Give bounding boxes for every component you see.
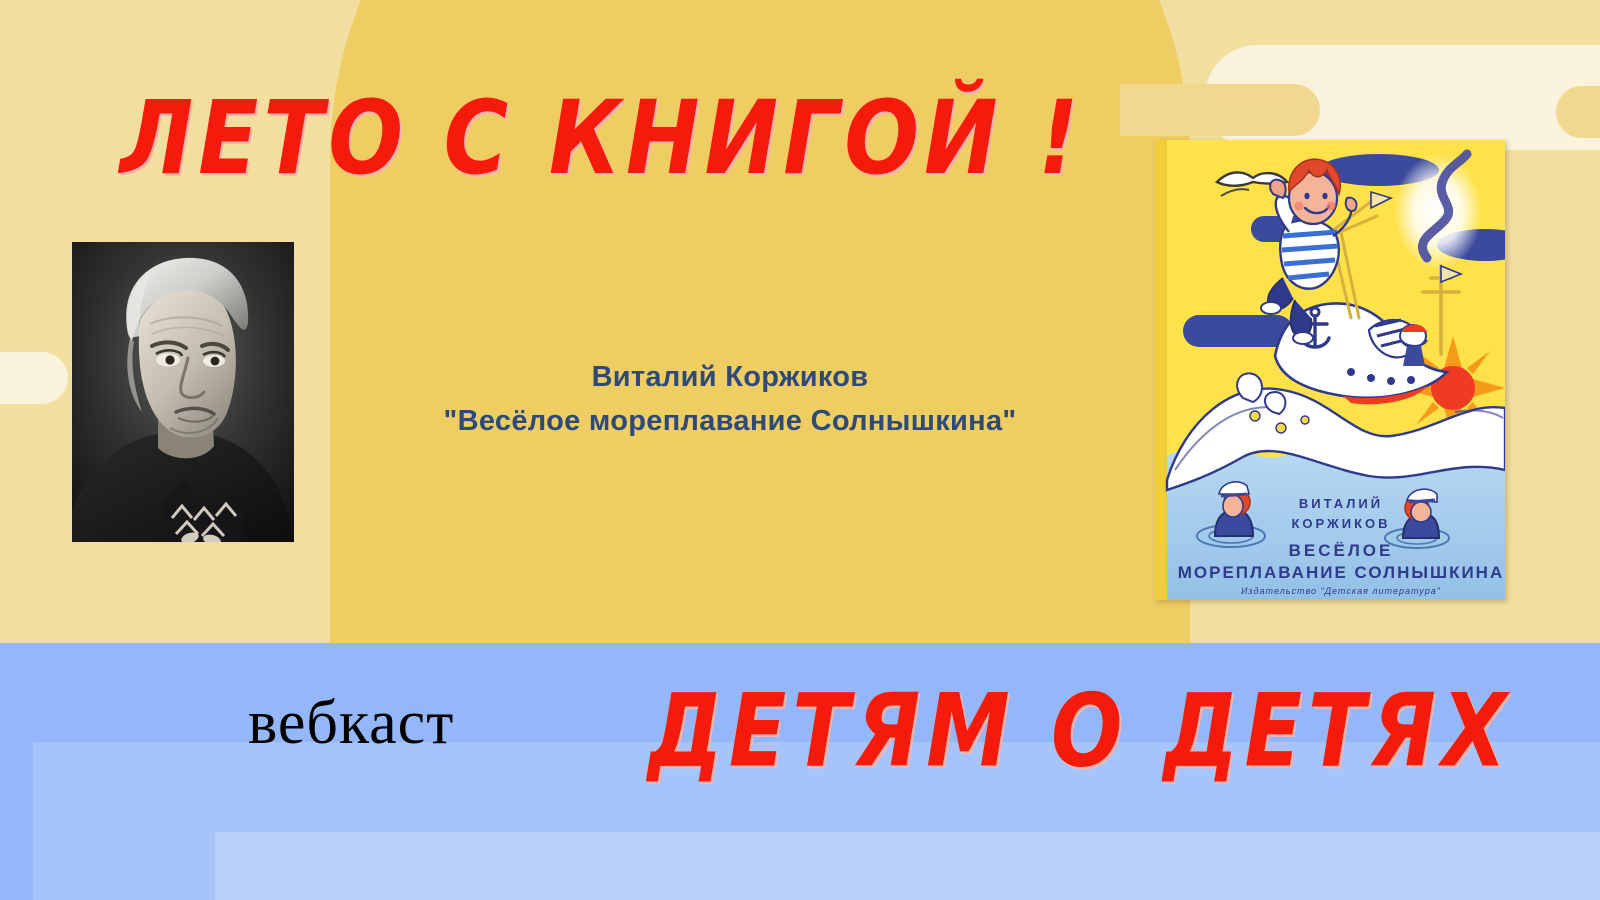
bottom-headline: ДЕТЯМ О ДЕТЯХ: [648, 672, 1513, 790]
cover-title-line1: ВЕСЁЛОЕ: [1289, 541, 1394, 560]
cover-author-line2: КОРЖИКОВ: [1291, 516, 1390, 531]
credit-author-name: Виталий Коржиков: [290, 356, 1170, 400]
credit-book-title: "Весёлое мореплавание Солнышкина": [290, 400, 1170, 444]
decorative-cream-bar-left: [0, 352, 68, 404]
credit-block: Виталий Коржиков "Весёлое мореплавание С…: [290, 356, 1170, 443]
cover-author-line1: ВИТАЛИЙ: [1299, 496, 1383, 511]
cover-publisher: Издательство "Детская литература": [1241, 586, 1441, 596]
portrait-illustration: [72, 242, 294, 542]
decorative-pill-top-right-a: [1120, 84, 1320, 136]
decorative-pill-top-right-b: [1556, 86, 1600, 138]
book-cover-illustration: ВИТАЛИЙ КОРЖИКОВ ВЕСЁЛОЕ МОРЕПЛАВАНИЕ СО…: [1155, 140, 1505, 600]
decorative-blue-rect-b: [215, 832, 1600, 900]
book-cover-image: ВИТАЛИЙ КОРЖИКОВ ВЕСЁЛОЕ МОРЕПЛАВАНИЕ СО…: [1155, 140, 1505, 600]
poster-canvas: ЛЕТО С КНИГОЙ !: [0, 0, 1600, 900]
cover-title-line2: МОРЕПЛАВАНИЕ СОЛНЫШКИНА: [1178, 563, 1504, 582]
author-portrait-photo: [72, 242, 294, 542]
main-headline: ЛЕТО С КНИГОЙ !: [120, 78, 1020, 197]
format-label: вебкаст: [248, 688, 454, 759]
